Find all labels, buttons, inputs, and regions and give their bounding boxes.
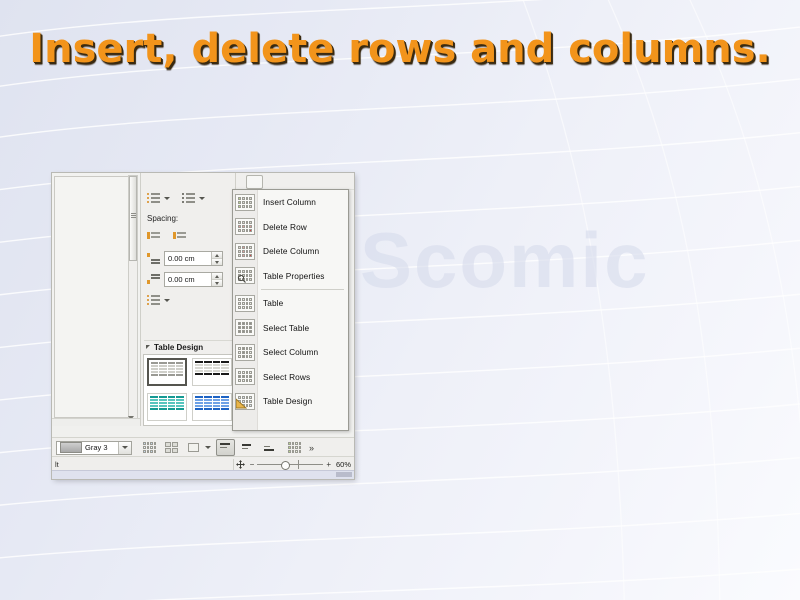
style-row: [195, 361, 229, 363]
border-color-icon: [188, 443, 199, 452]
table-glyph: [238, 371, 252, 382]
zoom-slider-knob[interactable]: [281, 461, 290, 470]
status-bar: lt − + 60%: [52, 456, 354, 471]
spacing-label: Spacing:: [147, 214, 178, 223]
vertical-scrollbar[interactable]: [128, 175, 138, 425]
style-row: [150, 396, 184, 398]
color-swatch: [60, 442, 82, 453]
menu-item-label: Table Properties: [263, 271, 325, 281]
spin-up-icon[interactable]: [212, 273, 222, 280]
menu-item-delete-column[interactable]: Delete Column: [233, 239, 348, 264]
menu-item-label: Insert Column: [263, 197, 316, 207]
bottom-scrollbar-thumb[interactable]: [336, 472, 352, 477]
style-row: [195, 405, 229, 407]
spin-down-icon[interactable]: [212, 280, 222, 286]
align-top-button[interactable]: [216, 439, 235, 456]
table-glyph: [238, 347, 252, 358]
status-left-text: lt: [55, 460, 59, 469]
menu-item-table-properties[interactable]: Table Properties: [233, 264, 348, 289]
menu-item-label: Table Design: [263, 396, 312, 406]
align-center-vertical-button[interactable]: [238, 439, 257, 456]
zoom-slider-track[interactable]: [257, 464, 323, 465]
fill-color-value: Gray 3: [85, 443, 118, 452]
menu-item-insert-column[interactable]: Insert Column: [233, 190, 348, 215]
ordered-list-icon[interactable]: [182, 193, 195, 204]
table-glyph: [238, 197, 252, 208]
table-context-menu[interactable]: Insert Column Delete Row Delete Colu: [232, 189, 349, 431]
style-row: [150, 405, 184, 407]
delete-row-icon: [235, 218, 255, 235]
zoom-slider-tick: [298, 460, 299, 469]
zoom-in-button[interactable]: +: [326, 460, 331, 469]
style-row: [195, 370, 229, 372]
table-design-section-header[interactable]: Table Design: [144, 340, 232, 353]
spacing-below-spin-buttons[interactable]: [211, 273, 222, 286]
spacing-above-spin-buttons[interactable]: [211, 252, 222, 265]
chevron-down-icon[interactable]: [118, 442, 131, 454]
style-row: [195, 373, 229, 375]
vertical-scrollbar-thumb[interactable]: [129, 176, 137, 261]
align-bottom-icon: [264, 446, 275, 453]
magnifier-icon: [237, 274, 246, 283]
toolbar-overflow-button[interactable]: »: [309, 443, 314, 453]
line-spacing-dropdown-icon[interactable]: [164, 299, 170, 302]
table-design-section-title: Table Design: [154, 343, 203, 352]
slide-page[interactable]: [54, 176, 129, 418]
table-bottom-toolbar: Gray 3: [52, 437, 354, 457]
decrease-spacing-icon[interactable]: [173, 230, 186, 241]
fit-slide-icon[interactable]: [233, 459, 245, 470]
insert-column-icon: [235, 194, 255, 211]
style-row: [150, 399, 184, 401]
document-canvas[interactable]: [52, 173, 141, 426]
insert-table-icon: [288, 442, 301, 453]
embedded-screenshot-image: Spacing:: [52, 173, 354, 479]
border-color-button[interactable]: [184, 439, 203, 456]
menu-item-delete-row[interactable]: Delete Row: [233, 215, 348, 240]
page-title: Insert, delete rows and columns.: [0, 26, 800, 72]
style-row: [195, 399, 229, 401]
spacing-above-input[interactable]: [165, 252, 211, 265]
border-style-button[interactable]: [162, 439, 181, 456]
insert-table-button[interactable]: [285, 439, 304, 456]
ruler-triangle-icon: [236, 398, 247, 409]
table-glyph: [238, 298, 252, 309]
scrollbar-grip-icon: [131, 213, 136, 219]
unordered-list-icon[interactable]: [147, 193, 160, 204]
table-style-teal[interactable]: [147, 393, 187, 421]
style-row: [150, 408, 184, 410]
spin-down-icon[interactable]: [212, 259, 222, 265]
insert-text-box-button[interactable]: [246, 175, 263, 189]
menu-item-table[interactable]: Table: [233, 291, 348, 316]
select-rows-icon: [235, 368, 255, 385]
horizontal-scrollbar[interactable]: [52, 418, 140, 426]
style-row: [195, 402, 229, 404]
menu-item-select-column[interactable]: Select Column: [233, 340, 348, 365]
menu-item-label: Select Column: [263, 347, 318, 357]
border-style-icon: [165, 442, 178, 453]
spin-up-icon[interactable]: [212, 252, 222, 259]
table-styles-gallery[interactable]: [143, 354, 235, 426]
fill-color-combobox[interactable]: Gray 3: [56, 441, 132, 455]
border-color-dropdown-icon[interactable]: [205, 446, 211, 449]
table-style-black[interactable]: [192, 358, 232, 386]
menu-item-label: Select Rows: [263, 372, 310, 382]
zoom-slider-control[interactable]: − +: [250, 460, 331, 469]
table-glyph: [238, 322, 252, 333]
spacing-below-spinner[interactable]: [164, 272, 223, 287]
style-row: [151, 374, 183, 376]
style-row: [195, 408, 229, 410]
unordered-list-dropdown-icon[interactable]: [164, 197, 170, 200]
table-properties-icon: [235, 267, 255, 284]
menu-item-table-design[interactable]: Table Design: [233, 389, 348, 414]
style-row: [150, 402, 184, 404]
window-bottom-scrollbar[interactable]: [52, 470, 354, 479]
menu-item-label: Select Table: [263, 323, 309, 333]
table-glyph: [238, 246, 252, 257]
merge-cells-button[interactable]: [267, 175, 282, 187]
borders-button[interactable]: [140, 439, 159, 456]
spacing-above-paragraph-icon: [147, 253, 160, 264]
menu-item-select-table[interactable]: Select Table: [233, 316, 348, 341]
style-row: [195, 396, 229, 398]
table-style-blue[interactable]: [192, 393, 232, 421]
select-table-icon: [235, 319, 255, 336]
spacing-below-paragraph-icon: [147, 274, 160, 285]
style-row: [151, 368, 183, 370]
split-cells-button[interactable]: [288, 175, 303, 187]
spacing-above-spinner[interactable]: [164, 251, 223, 266]
table-design-icon: [235, 393, 255, 410]
collapse-triangle-icon[interactable]: [146, 345, 150, 349]
borders-icon: [143, 442, 156, 453]
style-row: [195, 364, 229, 366]
delete-column-icon: [235, 243, 255, 260]
style-row: [195, 367, 229, 369]
table-style-gray[interactable]: [147, 358, 187, 386]
menu-item-label: Table: [263, 298, 283, 308]
align-center-vertical-icon: [242, 444, 253, 451]
ordered-list-dropdown-icon[interactable]: [199, 197, 205, 200]
line-spacing-icon[interactable]: [147, 295, 160, 306]
spacing-below-input[interactable]: [165, 273, 211, 286]
select-column-icon: [235, 344, 255, 361]
table-icon: [235, 295, 255, 312]
zoom-out-button[interactable]: −: [250, 460, 255, 469]
style-row: [151, 365, 183, 367]
table-glyph: [238, 221, 252, 232]
menu-item-label: Delete Column: [263, 246, 319, 256]
style-row: [151, 362, 183, 364]
increase-spacing-icon[interactable]: [147, 230, 160, 241]
sidebar-properties-panel: Spacing:: [141, 173, 236, 426]
align-bottom-button[interactable]: [260, 439, 279, 456]
style-row: [151, 371, 183, 373]
menu-separator: [261, 289, 344, 290]
align-top-icon: [220, 443, 231, 450]
zoom-level-value[interactable]: 60%: [336, 460, 351, 469]
menu-item-label: Delete Row: [263, 222, 307, 232]
menu-item-select-rows[interactable]: Select Rows: [233, 365, 348, 390]
